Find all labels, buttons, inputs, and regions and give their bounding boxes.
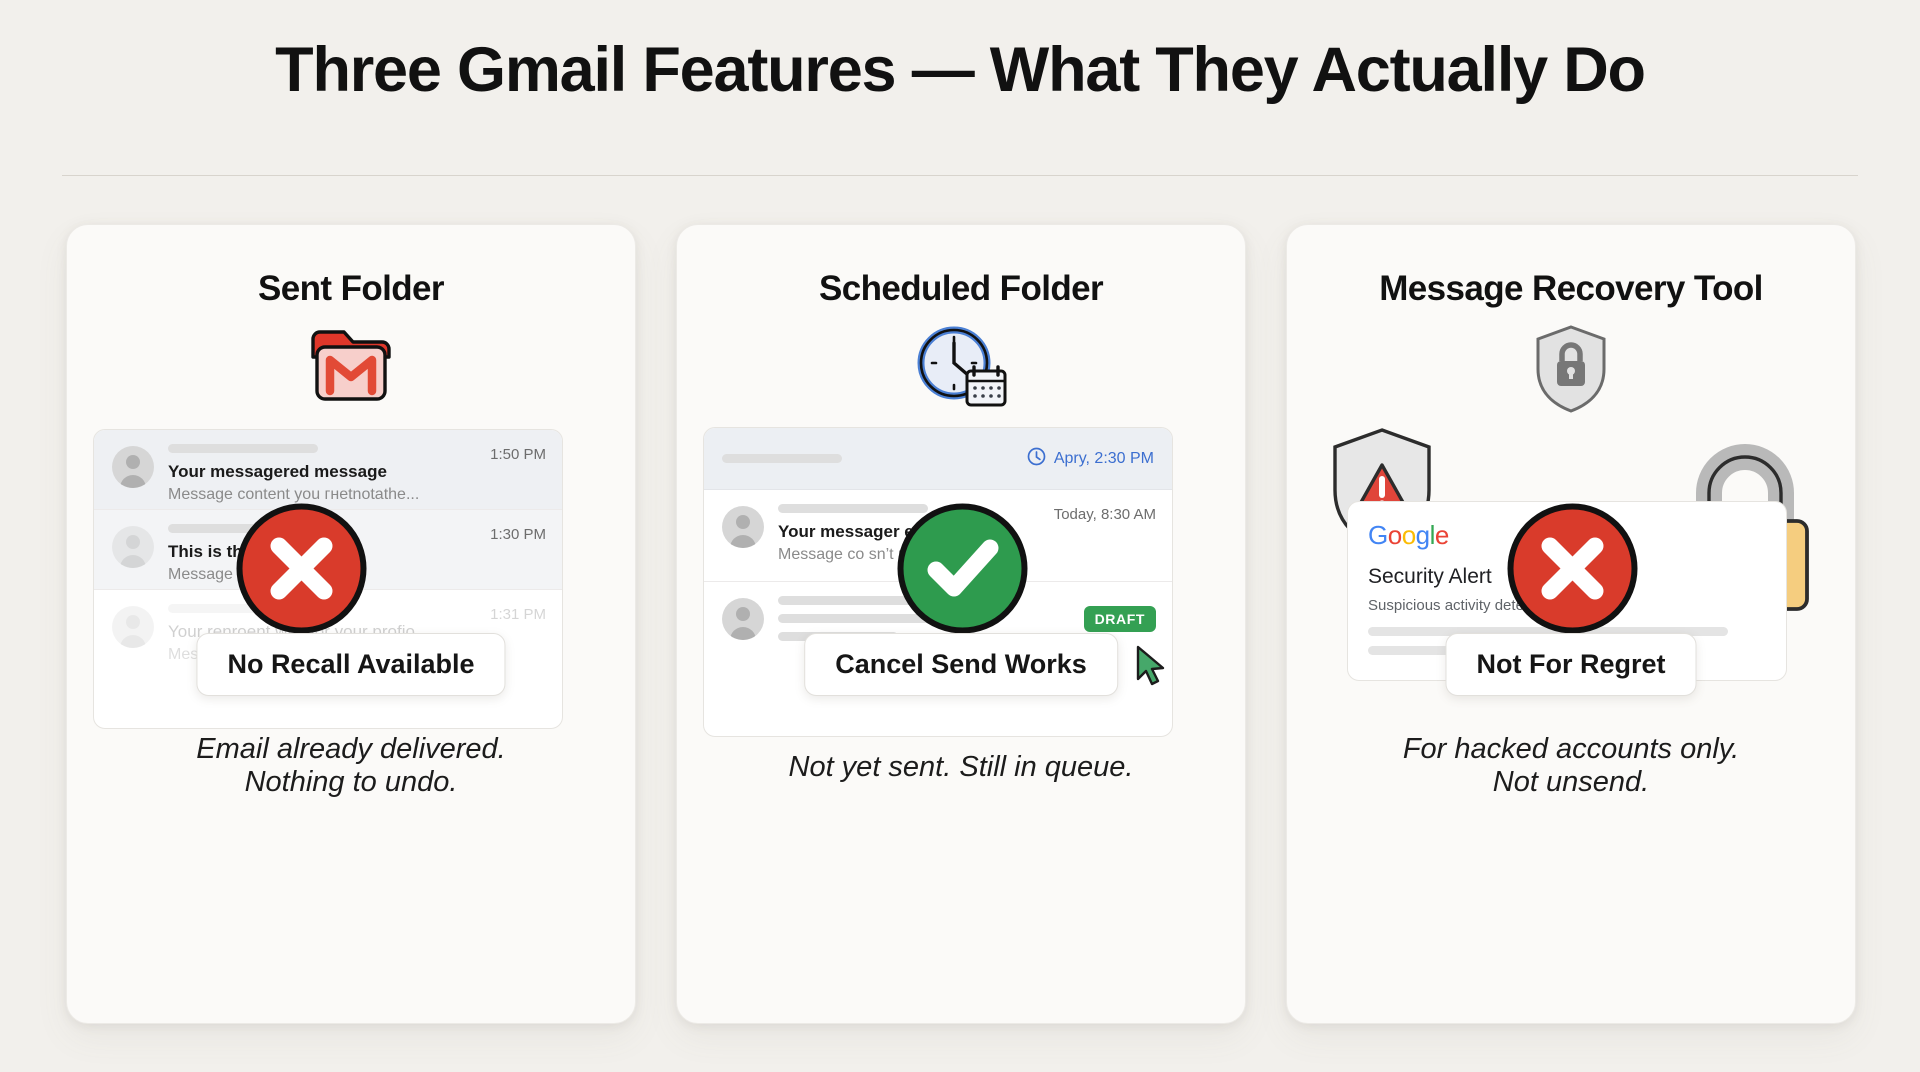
card-caption: For hacked accounts only. Not unsend. bbox=[1287, 733, 1855, 799]
scheduled-time-label: Apry, 2:30 PM bbox=[1054, 450, 1154, 468]
clock-icon bbox=[1027, 447, 1046, 471]
avatar bbox=[112, 446, 154, 488]
status-badge: No Recall Available bbox=[196, 633, 505, 696]
clock-calendar-icon bbox=[677, 323, 1245, 415]
email-time: Today, 8:30 AM bbox=[1046, 504, 1156, 523]
card-message-recovery-tool[interactable]: Message Recovery Tool bbox=[1286, 224, 1856, 1024]
email-time: 1:30 PM bbox=[482, 524, 546, 543]
email-time: 1:50 PM bbox=[482, 444, 546, 463]
red-x-badge bbox=[234, 501, 369, 641]
avatar bbox=[112, 526, 154, 568]
table-row[interactable]: Your messagered message Message content … bbox=[94, 430, 562, 510]
draft-badge[interactable]: DRAFT bbox=[1084, 606, 1156, 632]
gmail-folder-icon bbox=[67, 323, 635, 415]
status-badge: Not For Regret bbox=[1446, 633, 1697, 696]
title-divider bbox=[62, 175, 1858, 176]
red-x-badge bbox=[1505, 501, 1640, 641]
card-title: Sent Folder bbox=[67, 269, 635, 309]
avatar bbox=[722, 506, 764, 548]
email-time: 1:31 PM bbox=[482, 604, 546, 623]
poster-root: Three Gmail Features — What They Actuall… bbox=[0, 0, 1920, 1072]
card-row: Sent Folder Your messagered message Mess… bbox=[66, 224, 1858, 1024]
card-caption: Not yet sent. Still in queue. bbox=[677, 751, 1245, 784]
card-caption: Email already delivered. Nothing to undo… bbox=[67, 733, 635, 799]
shield-lock-icon bbox=[1287, 323, 1855, 415]
green-check-badge bbox=[895, 501, 1030, 641]
placeholder-bar bbox=[168, 444, 318, 453]
scheduled-time: Apry, 2:30 PM bbox=[1027, 447, 1154, 471]
page-title: Three Gmail Features — What They Actuall… bbox=[0, 34, 1920, 106]
card-sent-folder[interactable]: Sent Folder Your messagered message Mess… bbox=[66, 224, 636, 1024]
card-title: Message Recovery Tool bbox=[1287, 269, 1855, 309]
scheduled-header: Apry, 2:30 PM bbox=[704, 428, 1172, 490]
avatar bbox=[112, 606, 154, 648]
card-title: Scheduled Folder bbox=[677, 269, 1245, 309]
avatar bbox=[722, 598, 764, 640]
card-scheduled-folder[interactable]: Scheduled Folder bbox=[676, 224, 1246, 1024]
placeholder-bar bbox=[722, 454, 842, 463]
status-badge: Cancel Send Works bbox=[804, 633, 1118, 696]
email-subject: Your messagered message bbox=[168, 462, 482, 482]
mouse-cursor-icon bbox=[1134, 645, 1168, 692]
